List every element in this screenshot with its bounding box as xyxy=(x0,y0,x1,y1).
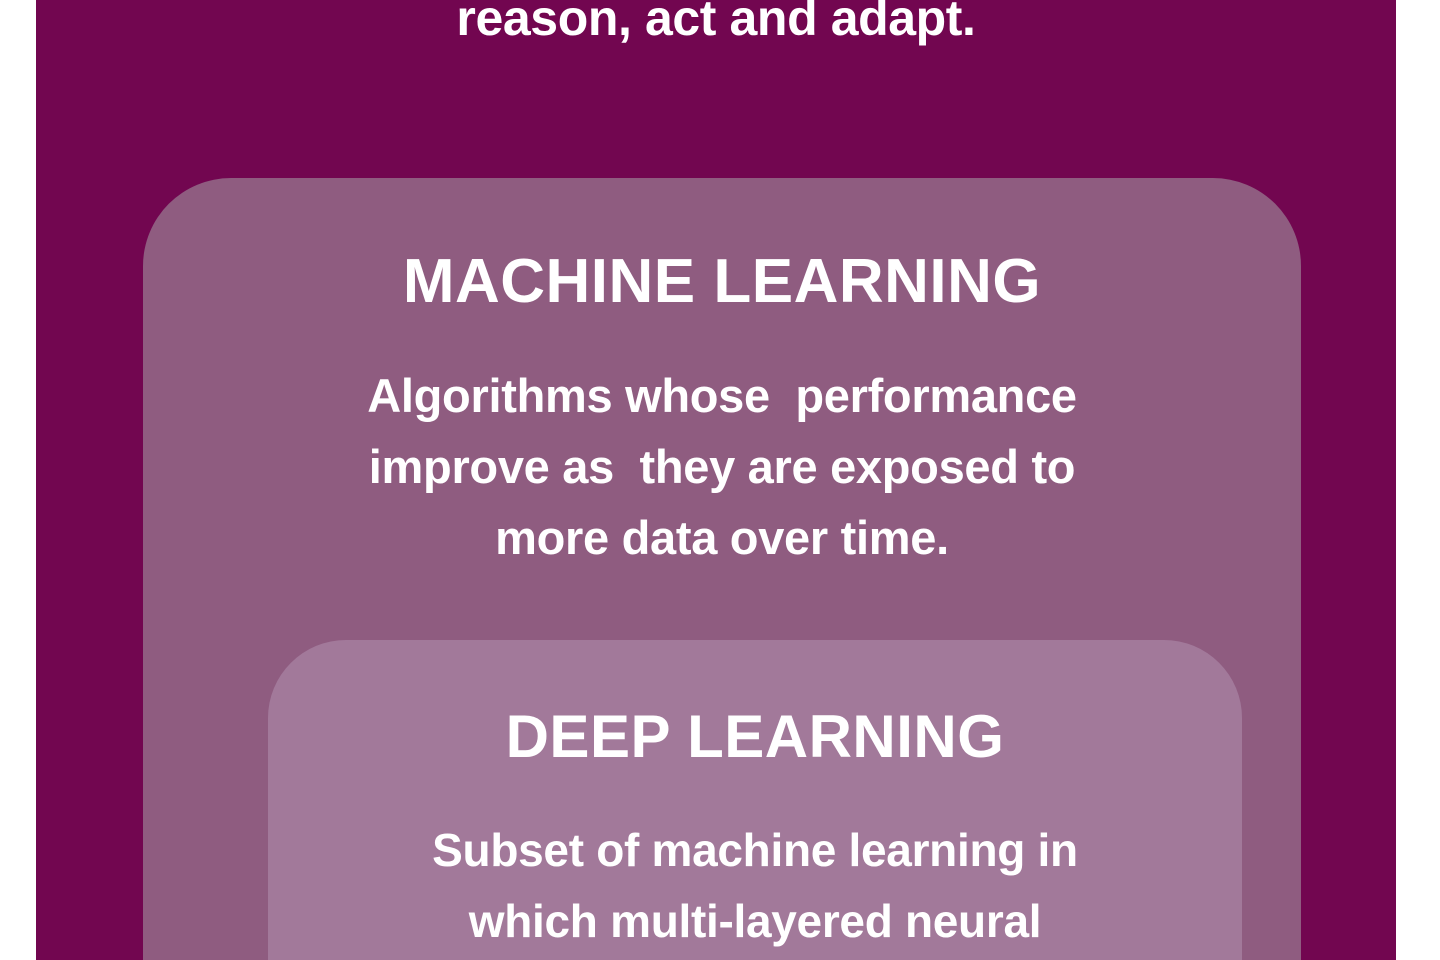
deep-learning-heading: DEEP LEARNING xyxy=(268,700,1242,774)
machine-learning-heading: MACHINE LEARNING xyxy=(143,244,1301,320)
machine-learning-description-line-2: improve as they are exposed to xyxy=(228,431,1216,502)
machine-learning-description-line-1: Algorithms whose performance xyxy=(228,360,1216,431)
deep-learning-description-line-1: Subset of machine learning in xyxy=(328,815,1182,886)
ai-tagline: A programme that can sense, reason, act … xyxy=(36,0,1396,50)
deep-learning-card: DEEP LEARNING Subset of machine learning… xyxy=(268,640,1242,960)
deep-learning-description-line-2: which multi-layered neural xyxy=(328,886,1182,957)
deep-learning-description: Subset of machine learning in which mult… xyxy=(268,815,1242,957)
machine-learning-description: Algorithms whose performance improve as … xyxy=(143,360,1301,573)
ai-tagline-line-2: reason, act and adapt. xyxy=(336,0,1096,50)
artificial-intelligence-panel: A programme that can sense, reason, act … xyxy=(36,0,1396,960)
machine-learning-description-line-3: more data over time. xyxy=(228,502,1216,573)
infographic-canvas: A programme that can sense, reason, act … xyxy=(0,0,1440,960)
machine-learning-card: MACHINE LEARNING Algorithms whose perfor… xyxy=(143,178,1301,960)
